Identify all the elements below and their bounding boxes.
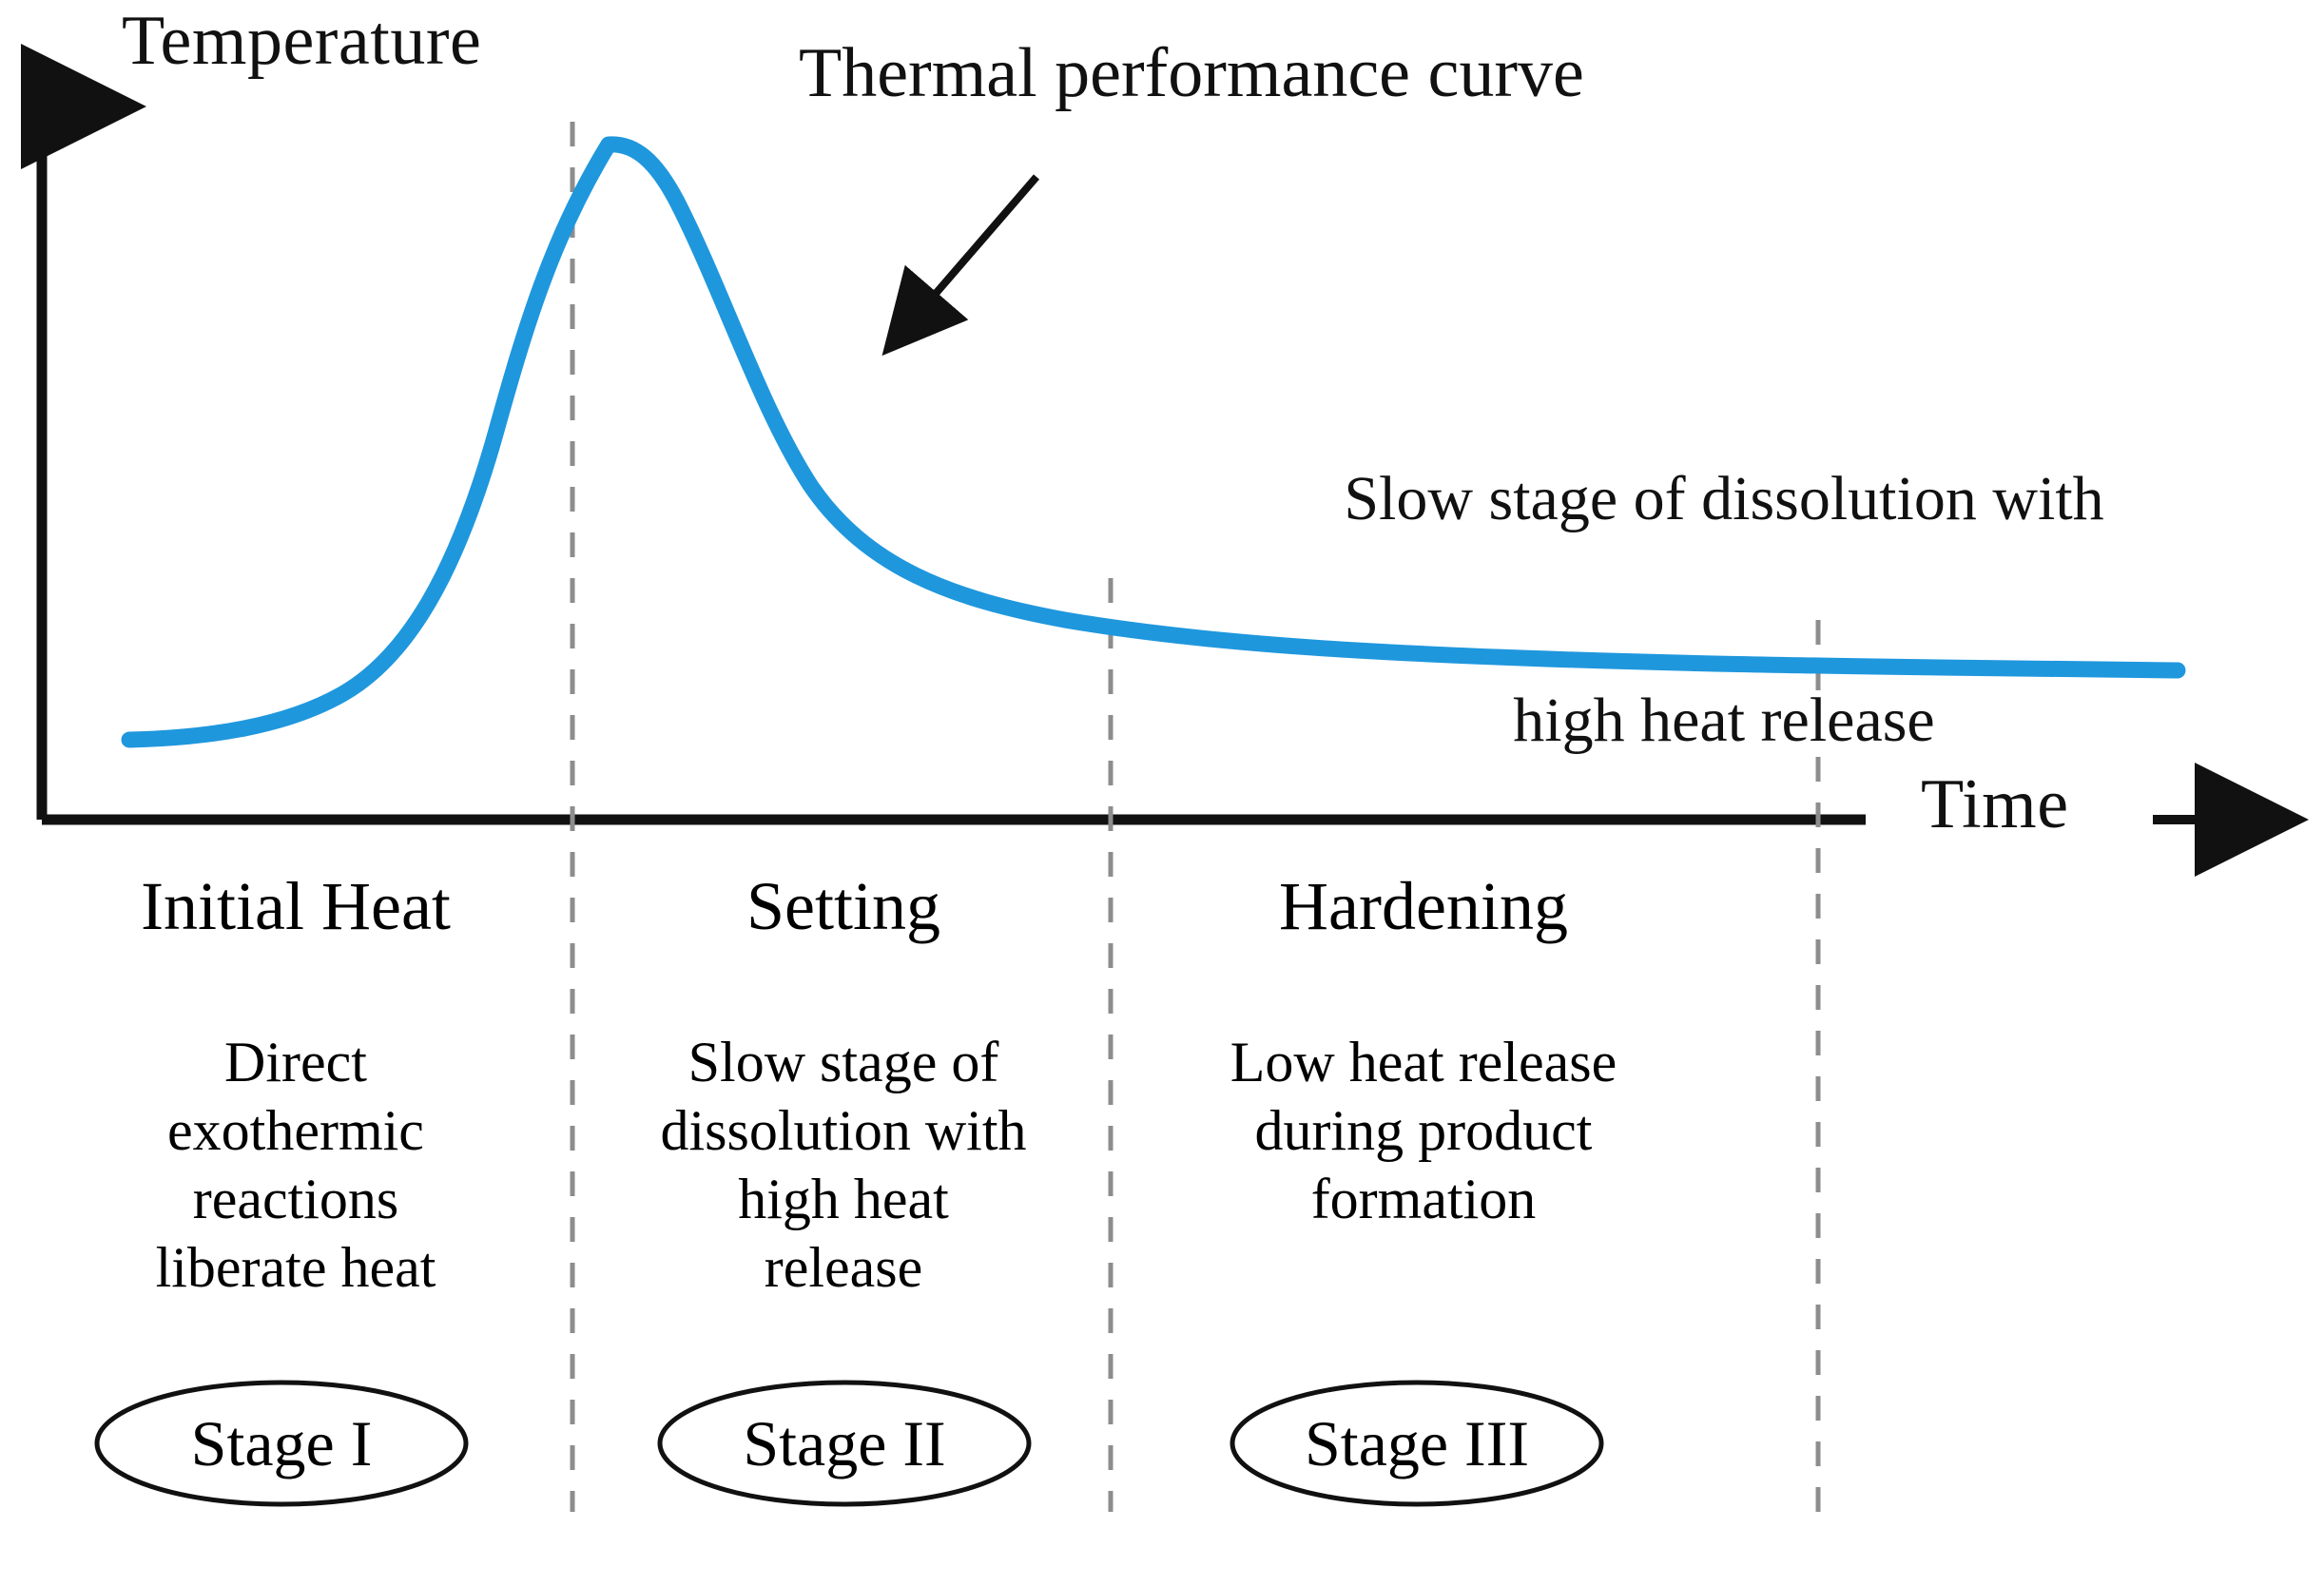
thermal-performance-diagram: Temperature Time Thermal performance cur… — [0, 0, 2324, 1586]
side-note-line-1: Slow stage of dissolution with — [1187, 462, 2261, 536]
stage-badge-label-1: Stage I — [91, 1377, 472, 1510]
stage-description-2-line-1: Slow stage of — [574, 1028, 1113, 1096]
stage-description-1-line-2: exothermic — [17, 1096, 574, 1165]
stage-description-3-line-2: during product — [1114, 1096, 1733, 1165]
stage-badge-2: Stage II — [654, 1377, 1035, 1510]
stage-description-2-line-2: dissolution with — [574, 1096, 1113, 1165]
curve-callout-label: Thermal performance curve — [799, 34, 1584, 113]
stage-description-1-line-4: liberate heat — [17, 1233, 574, 1302]
y-axis-label: Temperature — [122, 2, 481, 81]
stage-column-setting: Setting Slow stage of dissolution with h… — [574, 867, 1113, 1302]
stage-description-1-line-1: Direct — [17, 1028, 574, 1096]
stage-badge-1: Stage I — [91, 1377, 472, 1510]
stage-title-2: Setting — [574, 867, 1113, 946]
stage-description-2: Slow stage of dissolution with high heat… — [574, 1028, 1113, 1302]
side-note-line-2: high heat release — [1187, 684, 2261, 758]
stage-title-1: Initial Heat — [17, 867, 574, 946]
callout-arrow — [892, 177, 1036, 344]
stage-badge-label-3: Stage III — [1227, 1377, 1607, 1510]
stage-description-3-line-1: Low heat release — [1114, 1028, 1733, 1096]
stage-description-1-line-3: reactions — [17, 1165, 574, 1233]
stage-badge-3: Stage III — [1227, 1377, 1607, 1510]
stage-badge-label-2: Stage II — [654, 1377, 1035, 1510]
stage-title-3: Hardening — [1114, 867, 1733, 946]
stage-description-3: Low heat release during product formatio… — [1114, 1028, 1733, 1233]
stage-description-2-line-3: high heat — [574, 1165, 1113, 1233]
stage-description-1: Direct exothermic reactions liberate hea… — [17, 1028, 574, 1302]
stage-column-hardening: Hardening Low heat release during produc… — [1114, 867, 1733, 1233]
stage-column-initial-heat: Initial Heat Direct exothermic reactions… — [17, 867, 574, 1302]
stage-description-2-line-4: release — [574, 1233, 1113, 1302]
stage-description-3-line-3: formation — [1114, 1165, 1733, 1233]
side-note: Slow stage of dissolution with high heat… — [1187, 314, 2261, 906]
